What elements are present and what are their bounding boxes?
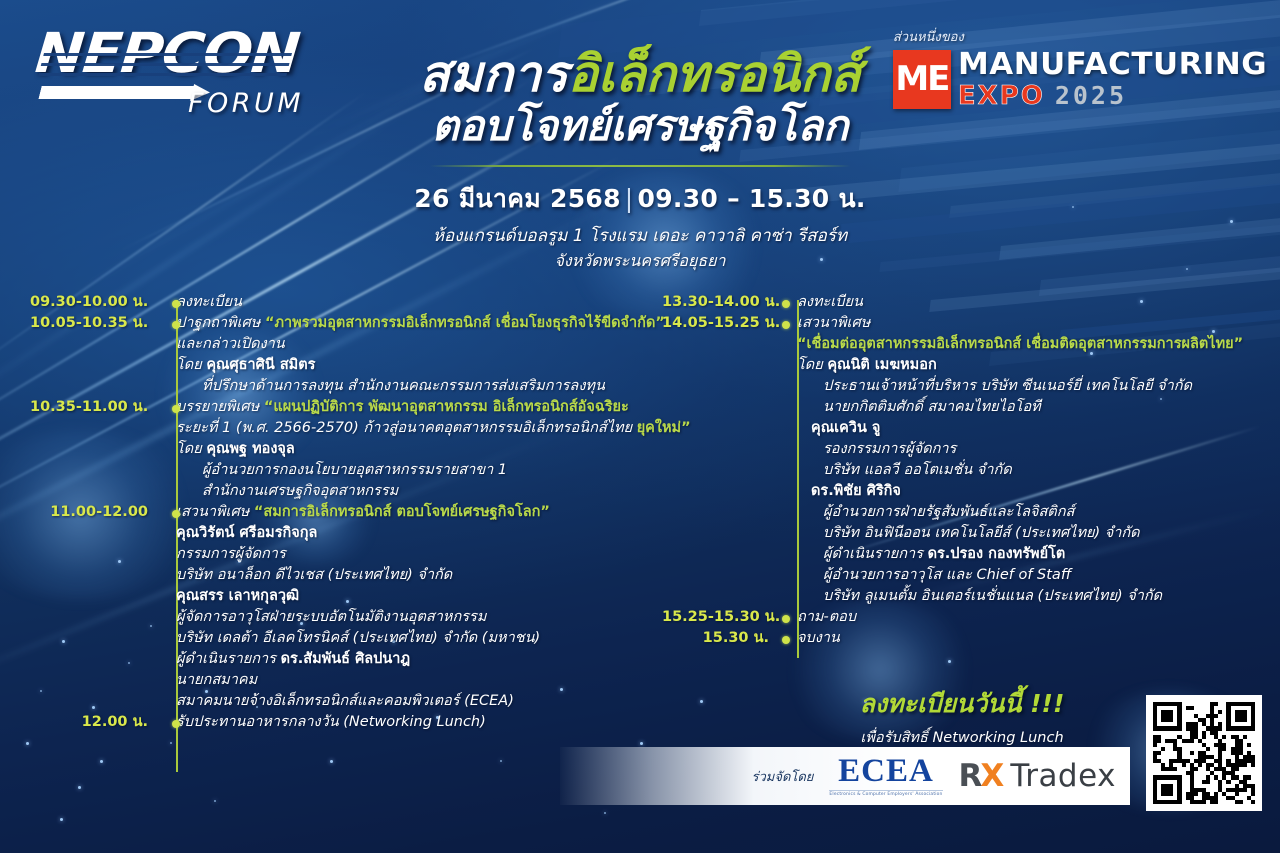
- agenda-line: ดร.พิชัย ศิริกิจ: [797, 481, 1262, 502]
- agenda-line: โดย คุณนิติ เมฆหมอก: [797, 355, 1262, 376]
- agenda-line: ระยะที่ 1 (พ.ศ. 2566-2570) ก้าวสู่อนาคตอ…: [176, 418, 630, 439]
- agenda-line-highlight: “ภาพรวมอุตสาหกรรมอิเล็กทรอนิกส์ เชื่อมโย…: [265, 315, 665, 331]
- timeline-dot-icon: [782, 321, 790, 329]
- bg-shape: [170, 742, 172, 744]
- agenda-body: บรรยายพิเศษ “แผนปฏิบัติการ พัฒนาอุตสาหกร…: [176, 397, 630, 502]
- agenda-body: จบงาน: [797, 628, 1262, 649]
- agenda-line: บริษัท แอลวี ออโตเมชั่น จำกัด: [797, 460, 1262, 481]
- bg-shape: [999, 217, 1280, 259]
- expo-text: EXPO: [958, 83, 1045, 109]
- registration-callout: ลงทะเบียนวันนี้ !!! เพื่อรับสิทธิ์ Netwo…: [812, 684, 1112, 749]
- agenda-line: บริษัท เดลต้า อีเลคโทรนิคส์ (ประเทศไทย) …: [176, 628, 630, 649]
- agenda-row: 15.25-15.30 น.ถาม-ตอบ: [662, 607, 1262, 628]
- event-title-line1: สมการอิเล็กทรอนิกส์: [330, 48, 950, 101]
- bg-shape: [214, 800, 216, 802]
- ecea-wordmark: ECEA: [838, 753, 934, 789]
- ecea-tagline: Electronics & Computer Employers' Associ…: [829, 790, 942, 797]
- bg-shape: [604, 812, 606, 814]
- bg-shape: [26, 742, 29, 745]
- agenda-line: ลงทะเบียน: [797, 292, 1262, 313]
- agenda-body: ถาม-ตอบ: [797, 607, 1262, 628]
- timeline-dot-icon: [172, 321, 180, 329]
- ecea-logo: ECEA Electronics & Computer Employers' A…: [829, 755, 942, 797]
- nepcon-wordmark: NEPCON: [33, 26, 329, 81]
- register-subtitle: เพื่อรับสิทธิ์ Networking Lunch: [812, 726, 1112, 749]
- qr-module: [1251, 800, 1255, 804]
- agenda-speaker-name: คุณนิติ เมฆหมอก: [827, 357, 936, 373]
- timeline-dot-icon: [782, 636, 790, 644]
- agenda-line: ผู้อำนวยการฝ่ายรัฐสัมพันธ์และโลจิสติกส์: [797, 502, 1262, 523]
- agenda-line: รองกรรมการผู้จัดการ: [797, 439, 1262, 460]
- agenda-line: คุณสรร เลาหกุลวุฒิ: [176, 586, 630, 607]
- rx-mark: RX: [959, 761, 1003, 792]
- agenda-line: นายกสมาคม: [176, 670, 630, 691]
- bg-shape: [948, 660, 951, 663]
- agenda-line: รับประทานอาหารกลางวัน (Networking Lunch): [176, 712, 630, 733]
- agenda-time: 14.05-15.25 น.: [662, 313, 769, 334]
- agenda-row: 15.30 น.จบงาน: [662, 628, 1262, 649]
- event-date: 26 มีนาคม 2568: [414, 184, 621, 213]
- agenda-line: ที่ปรึกษาด้านการลงทุน สำนักงานคณะกรรมการ…: [176, 376, 630, 397]
- agenda-body: ลงทะเบียน: [176, 292, 630, 313]
- tradex-wordmark: Tradex: [1010, 761, 1116, 792]
- agenda-speaker-name: คุณพฐ ทองจุล: [206, 441, 295, 457]
- agenda-line: เสวนาพิเศษ: [797, 313, 1262, 334]
- agenda-time: 10.35-11.00 น.: [30, 397, 148, 418]
- event-venue: ห้องแกรนด์บอลรูม 1 โรงแรม เดอะ คาวาลิ คา…: [330, 224, 950, 272]
- bg-shape: [1039, 256, 1280, 296]
- title-prefix: สมการ: [419, 45, 568, 103]
- agenda-line: และกล่าวเปิดงาน: [176, 334, 630, 355]
- agenda-line: ผู้อำนวยการกองนโยบายอุตสาหกรรมรายสาขา 1: [176, 460, 630, 481]
- bg-shape: [100, 760, 103, 763]
- event-time: 09.30 – 15.30 น.: [638, 184, 866, 213]
- agenda-row: 10.35-11.00 น.บรรยายพิเศษ “แผนปฏิบัติการ…: [30, 397, 630, 502]
- agenda-line: “เชื่อมต่ออุตสาหกรรมอิเล็กทรอนิกส์ เชื่อ…: [797, 334, 1262, 355]
- agenda-line-highlight: “สมการอิเล็กทรอนิกส์ ตอบโจทย์เศรษฐกิจโลก…: [254, 504, 550, 520]
- agenda-row: 10.05-10.35 น.ปาฐกถาพิเศษ “ภาพรวมอุตสาหก…: [30, 313, 630, 397]
- bg-shape: [699, 0, 1280, 26]
- bg-shape: [700, 700, 703, 703]
- agenda-line: จบงาน: [797, 628, 1262, 649]
- agenda-line: ประธานเจ้าหน้าที่บริหาร บริษัท ซีนเนอร์ย…: [797, 376, 1262, 397]
- expo-year: 2025: [1055, 83, 1127, 108]
- agenda-speaker-name: คุณศุธาศินี สมิตร: [206, 357, 315, 373]
- agenda-body: รับประทานอาหารกลางวัน (Networking Lunch): [176, 712, 630, 733]
- agenda-row: 12.00 น.รับประทานอาหารกลางวัน (Networkin…: [30, 712, 630, 733]
- agenda-time: 13.30-14.00 น.: [662, 292, 769, 313]
- bg-shape: [1230, 220, 1233, 223]
- agenda-row: 14.05-15.25 น.เสวนาพิเศษ“เชื่อมต่ออุตสาห…: [662, 313, 1262, 607]
- title-highlight: อิเล็กทรอนิกส์: [568, 45, 861, 103]
- agenda-line: บริษัท ลูเมนตั้ม อินเตอร์เนชั่นแนล (ประเ…: [797, 586, 1262, 607]
- bg-shape: [1072, 206, 1074, 208]
- agenda-line: ผู้จัดการอาวุโสฝ่ายระบบอัตโนมัติงานอุตสา…: [176, 607, 630, 628]
- bg-shape: [60, 818, 63, 821]
- agenda-speaker-name: ดร.สัมพันธ์ ศิลปนาฎ: [281, 651, 411, 667]
- agenda-afternoon-column: 13.30-14.00 น.ลงทะเบียน14.05-15.25 น.เสว…: [662, 292, 1262, 649]
- nepcon-arrow-icon: [38, 84, 212, 101]
- agenda-line: โดย คุณศุธาศินี สมิตร: [176, 355, 630, 376]
- agenda-morning-column: 09.30-10.00 น.ลงทะเบียน10.05-10.35 น.ปาฐ…: [30, 292, 630, 733]
- agenda-line: นายกกิตติมศักดิ์ สมาคมไทยไอโอที: [797, 397, 1262, 418]
- agenda-row: 11.00-12.00เสวนาพิเศษ “สมการอิเล็กทรอนิก…: [30, 502, 630, 712]
- timeline-dot-icon: [172, 405, 180, 413]
- agenda-line: ปาฐกถาพิเศษ “ภาพรวมอุตสาหกรรมอิเล็กทรอนิ…: [176, 313, 630, 334]
- agenda-row: 13.30-14.00 น.ลงทะเบียน: [662, 292, 1262, 313]
- sponsor-bar: ร่วมจัดโดย ECEA Electronics & Computer E…: [560, 747, 1130, 805]
- poster-canvas: NEPCON FORUM ส่วนหนึ่งของ ME MANUFACTURI…: [0, 0, 1280, 853]
- agenda-line: ถาม-ตอบ: [797, 607, 1262, 628]
- nepcon-forum-label: FORUM: [188, 88, 304, 119]
- bg-shape: [500, 760, 502, 762]
- timeline-dot-icon: [172, 510, 180, 518]
- agenda-line: ผู้อำนวยการอาวุโส และ Chief of Staff: [797, 565, 1262, 586]
- bg-shape: [330, 760, 333, 763]
- agenda-time: 10.05-10.35 น.: [30, 313, 148, 334]
- agenda-line: คุณวิรัตน์ ศรีอมรกิจกุล: [176, 523, 630, 544]
- agenda-time: 09.30-10.00 น.: [30, 292, 148, 313]
- agenda-time: 11.00-12.00: [30, 502, 148, 523]
- rx-tradex-logo: RX Tradex: [959, 761, 1116, 792]
- venue-province: จังหวัดพระนครศรีอยุธยา: [330, 249, 950, 272]
- agenda-line: บริษัท อนาล็อก ดีไวเชส (ประเทศไทย) จำกัด: [176, 565, 630, 586]
- title-block: สมการอิเล็กทรอนิกส์ ตอบโจทย์เศรษฐกิจโลก …: [330, 48, 950, 272]
- timeline-dot-icon: [782, 300, 790, 308]
- manufacturing-text: MANUFACTURING: [958, 50, 1267, 81]
- bg-shape: [78, 786, 81, 789]
- agenda-line: โดย คุณพฐ ทองจุล: [176, 439, 630, 460]
- agenda-time: 12.00 น.: [30, 712, 148, 733]
- agenda-line: คุณเควิน จู: [797, 418, 1262, 439]
- timeline-dot-icon: [172, 300, 180, 308]
- title-divider: [430, 165, 850, 167]
- timeline-dot-icon: [172, 720, 180, 728]
- datetime-separator: |: [621, 184, 638, 213]
- agenda-body: ลงทะเบียน: [797, 292, 1262, 313]
- agenda-line: ผู้ดำเนินรายการ ดร.ปรอง กองทรัพย์โต: [797, 544, 1262, 565]
- event-datetime: 26 มีนาคม 2568|09.30 – 15.30 น.: [330, 179, 950, 219]
- bg-shape: [949, 172, 1280, 218]
- agenda-body: เสวนาพิเศษ“เชื่อมต่ออุตสาหกรรมอิเล็กทรอน…: [797, 313, 1262, 607]
- agenda-time: 15.25-15.30 น.: [662, 607, 769, 628]
- timeline-dot-icon: [782, 615, 790, 623]
- agenda-line: บรรยายพิเศษ “แผนปฏิบัติการ พัฒนาอุตสาหกร…: [176, 397, 630, 418]
- agenda-line: บริษัท อินฟินีออน เทคโนโลยีส์ (ประเทศไทย…: [797, 523, 1262, 544]
- bg-shape: [1186, 268, 1188, 270]
- agenda-speaker-name: ดร.ปรอง กองทรัพย์โต: [928, 546, 1066, 562]
- agenda-line-highlight: “แผนปฏิบัติการ พัฒนาอุตสาหกรรม อิเล็กทรอ…: [264, 399, 629, 415]
- agenda-line: สำนักงานเศรษฐกิจอุตสาหกรรม: [176, 481, 630, 502]
- event-title-line2: ตอบโจทย์เศรษฐกิจโลก: [330, 103, 950, 149]
- agenda-line: ผู้ดำเนินรายการ ดร.สัมพันธ์ ศิลปนาฎ: [176, 649, 630, 670]
- qr-code-pattern: [1153, 702, 1255, 804]
- agenda-line: ลงทะเบียน: [176, 292, 630, 313]
- agenda-line: สมาคมนายจ้างอิเล็กทรอนิกส์และคอมพิวเตอร์…: [176, 691, 630, 712]
- qr-code[interactable]: [1146, 695, 1262, 811]
- bg-shape: [898, 129, 1280, 192]
- agenda-time: 15.30 น.: [662, 628, 769, 649]
- bg-shape: [640, 742, 643, 745]
- register-title: ลงทะเบียนวันนี้ !!!: [812, 684, 1112, 724]
- agenda-row: 09.30-10.00 น.ลงทะเบียน: [30, 292, 630, 313]
- nepcon-forum-logo: NEPCON FORUM: [38, 26, 313, 122]
- agenda-body: ปาฐกถาพิเศษ “ภาพรวมอุตสาหกรรมอิเล็กทรอนิ…: [176, 313, 630, 397]
- agenda-body: เสวนาพิเศษ “สมการอิเล็กทรอนิกส์ ตอบโจทย์…: [176, 502, 630, 712]
- venue-name: ห้องแกรนด์บอลรูม 1 โรงแรม เดอะ คาวาลิ คา…: [330, 224, 950, 249]
- part-of-label: ส่วนหนึ่งของ: [893, 26, 1154, 47]
- organized-by-label: ร่วมจัดโดย: [751, 766, 813, 787]
- agenda-line: กรรมการผู้จัดการ: [176, 544, 630, 565]
- agenda-line: เสวนาพิเศษ “สมการอิเล็กทรอนิกส์ ตอบโจทย์…: [176, 502, 630, 523]
